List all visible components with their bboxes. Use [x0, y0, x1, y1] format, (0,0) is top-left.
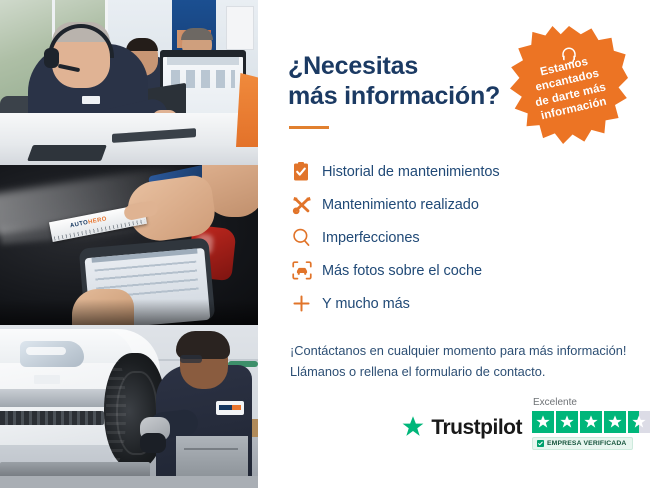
- page-title-line-1: ¿Necesitas: [288, 52, 418, 80]
- bottom-shadow: [0, 299, 258, 325]
- second-agent-hair: [126, 38, 158, 51]
- trustpilot-rating-block[interactable]: Trustpilot Excelente: [400, 397, 650, 450]
- star-icon: [607, 414, 623, 430]
- star-icon: [535, 414, 551, 430]
- star-icon: [583, 414, 599, 430]
- star-filled: [532, 411, 554, 433]
- information-promo-card: AUTOHERO: [0, 0, 650, 488]
- wrench-screwdriver-cross-icon: [292, 195, 322, 215]
- feature-list: Historial de mantenimientos Mantenimient…: [292, 155, 650, 320]
- support-starburst-badge: Estamos encantados de darte más informac…: [510, 26, 628, 144]
- list-item-label: Y mucho más: [322, 296, 410, 312]
- car-badge: [34, 375, 60, 384]
- desk-tablet: [27, 145, 107, 161]
- contact-paragraph-line-1: ¡Contáctanos en cualquier momento para m…: [290, 343, 626, 358]
- star-icon: [631, 414, 647, 430]
- agent-name-badge: [82, 96, 100, 104]
- photo-column: AUTOHERO: [0, 0, 258, 488]
- headset-earcup: [44, 48, 59, 68]
- workshop-floor: [0, 476, 258, 488]
- list-item-label: Mantenimiento realizado: [322, 197, 479, 213]
- list-item-label: Historial de mantenimientos: [322, 164, 500, 180]
- contact-paragraph: ¡Contáctanos en cualquier momento para m…: [290, 340, 650, 382]
- car-photo-frame-icon: [292, 261, 322, 280]
- tool-drawer: [176, 436, 248, 476]
- contact-paragraph-line-2: Llámanos o rellena el formulario de cont…: [290, 364, 545, 379]
- list-item-label: Imperfecciones: [322, 230, 420, 246]
- trustpilot-score: Excelente: [532, 397, 650, 450]
- star-icon: [559, 414, 575, 430]
- photo-inspector-measuring-car-body-with-ruler: AUTOHERO: [0, 165, 258, 325]
- title-accent-rule: [289, 126, 329, 129]
- star-filled: [556, 411, 578, 433]
- clipboard-check-icon: [292, 162, 322, 182]
- page-title: ¿Necesitas más información?: [288, 52, 518, 111]
- page-title-line-2: más información?: [288, 82, 500, 110]
- check-square-icon: [537, 440, 544, 447]
- trustpilot-rating-label: Excelente: [533, 397, 577, 408]
- car-bumper: [0, 389, 112, 407]
- safety-glasses: [180, 355, 202, 363]
- third-agent-hair: [181, 28, 213, 40]
- photo-call-centre-agents-with-headsets: [0, 0, 258, 165]
- uniform-logo: [216, 401, 244, 415]
- technician-glove-grip: [140, 433, 166, 453]
- wall-poster: [226, 6, 254, 50]
- trustpilot-star-icon: [400, 415, 426, 440]
- list-item: Historial de mantenimientos: [292, 155, 650, 188]
- photo-technician-checking-tyre-on-lifted-car: [0, 325, 258, 488]
- ruler-brand-part-2: HERO: [88, 216, 108, 226]
- list-item: Mantenimiento realizado: [292, 188, 650, 221]
- verified-company-label: EMPRESA VERIFICADA: [547, 440, 627, 447]
- list-item: Más fotos sobre el coche: [292, 254, 650, 287]
- tyre-tread: [106, 359, 126, 463]
- magnifier-icon: [292, 228, 322, 247]
- list-item: Imperfecciones: [292, 221, 650, 254]
- ruler-brand-text: AUTOHERO: [70, 216, 108, 229]
- uniform-logo-mark: [219, 405, 241, 410]
- trustpilot-stars: [532, 411, 650, 433]
- car-lower-grille: [0, 411, 104, 425]
- content-panel: ¿Necesitas más información? Estamos enca…: [258, 0, 650, 488]
- trustpilot-logo[interactable]: Trustpilot: [400, 415, 522, 450]
- star-half-filled: [628, 411, 650, 433]
- star-filled: [604, 411, 626, 433]
- badge-text: Estamos encantados de darte más informac…: [512, 49, 626, 128]
- ruler-brand-part-1: AUTO: [70, 220, 89, 229]
- list-item-label: Más fotos sobre el coche: [322, 263, 482, 279]
- trustpilot-logo-name: Trustpilot: [431, 416, 522, 440]
- list-item: Y mucho más: [292, 287, 650, 320]
- car-headlight: [20, 341, 84, 367]
- verified-company-badge: EMPRESA VERIFICADA: [532, 437, 633, 450]
- star-filled: [580, 411, 602, 433]
- plus-icon: [292, 294, 322, 313]
